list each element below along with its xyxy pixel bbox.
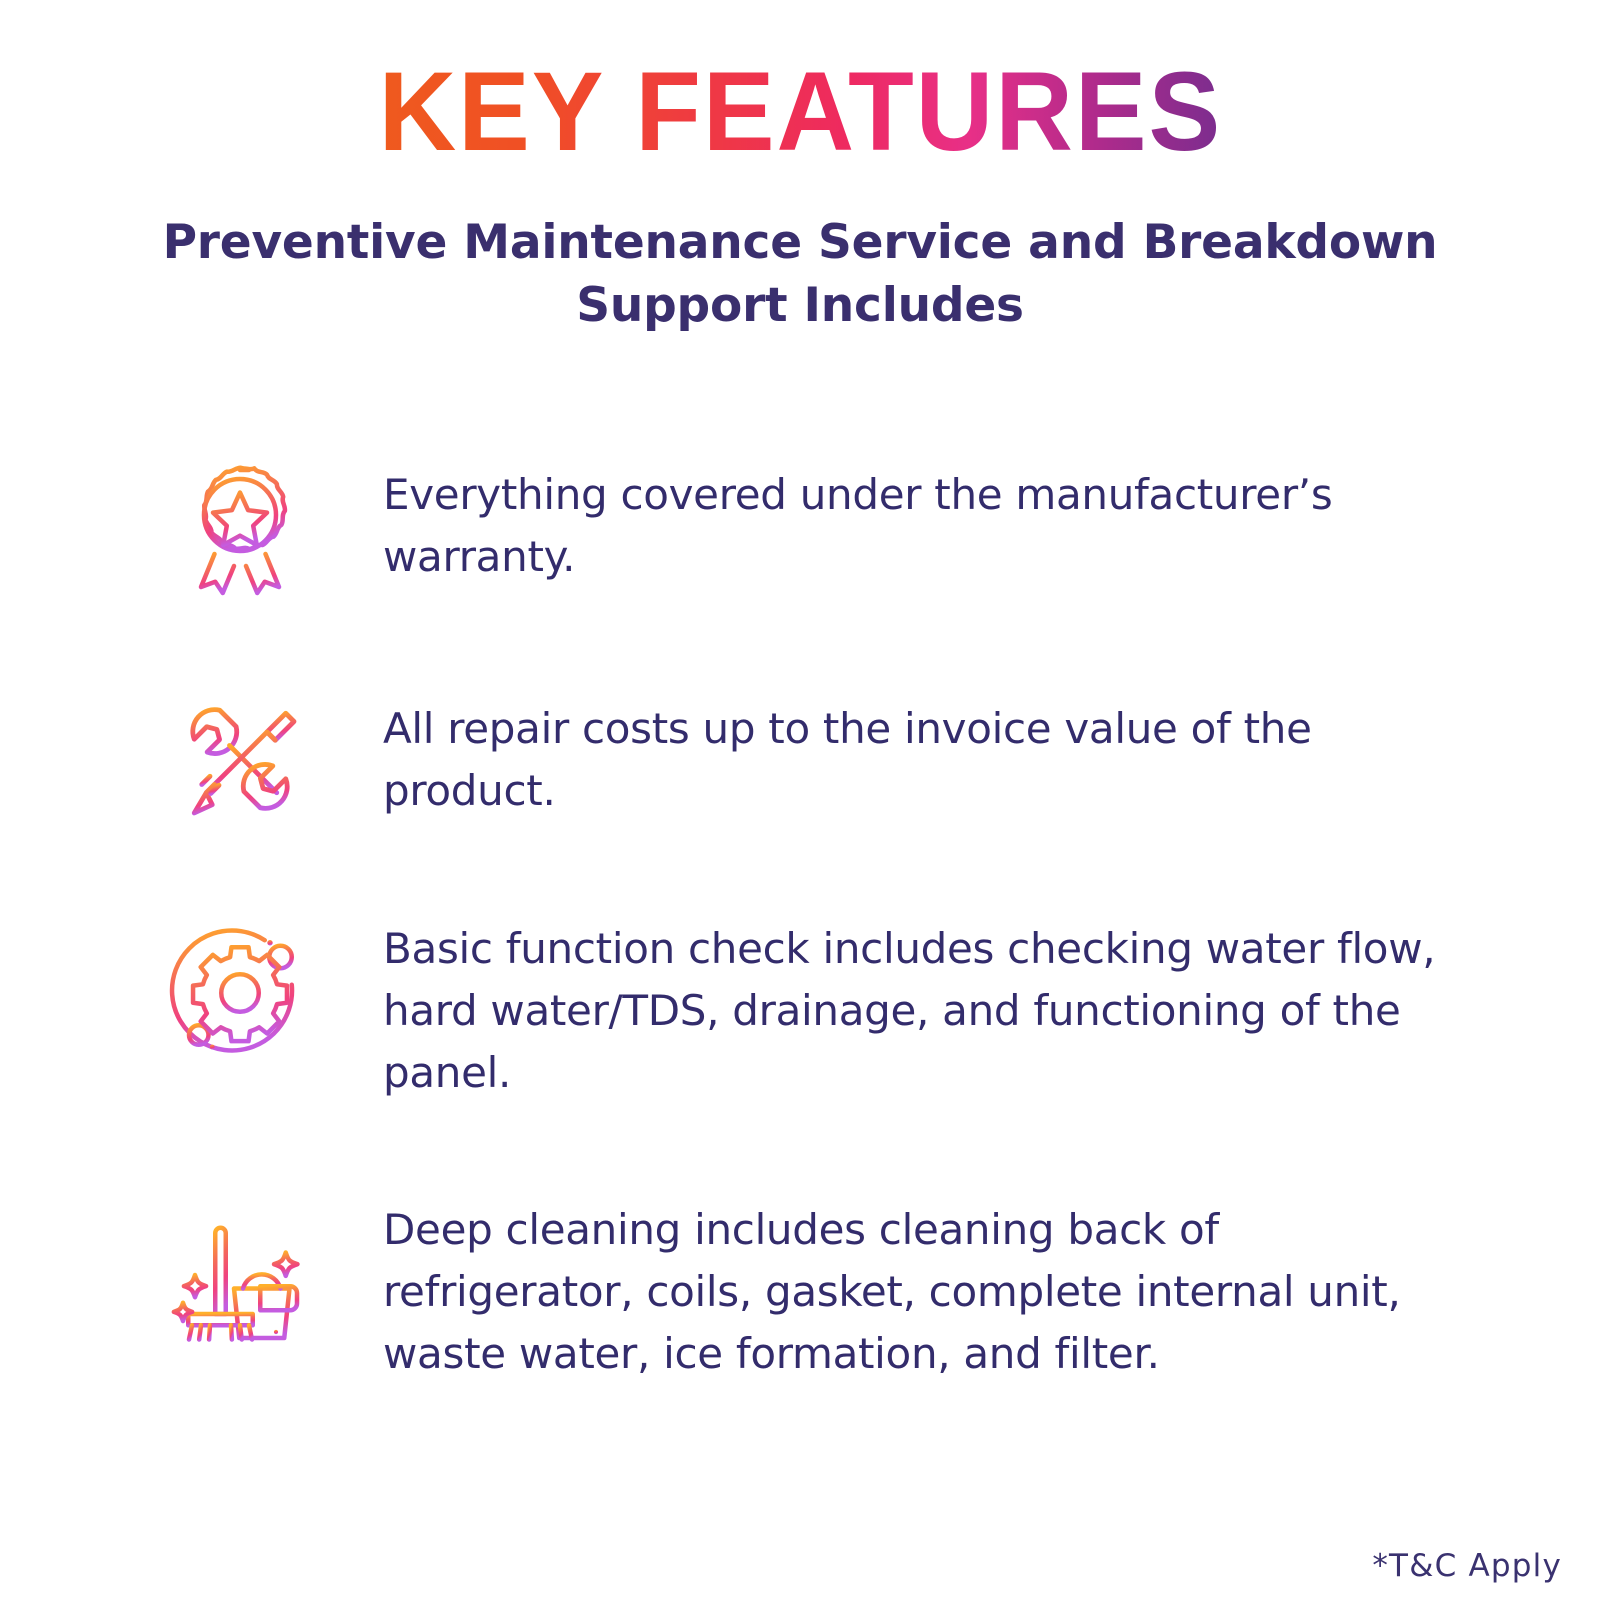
award-ribbon-icon [165,452,315,602]
feature-text: Deep cleaning includes cleaning back of … [315,1197,1465,1385]
feature-item-repair-costs: All repair costs up to the invoice value… [165,684,1465,834]
feature-item-warranty: Everything covered under the manufacture… [165,452,1465,602]
feature-item-deep-cleaning: Deep cleaning includes cleaning back of … [165,1197,1465,1385]
feature-text: Basic function check includes checking w… [315,918,1465,1104]
feature-text: Everything covered under the manufacture… [315,452,1465,588]
broom-bucket-cleaning-icon [165,1197,315,1347]
gear-settings-icon [165,918,315,1068]
terms-disclaimer: *T&C Apply [1372,1548,1562,1584]
page-title: KEY FEATURES [378,52,1222,173]
feature-item-function-check: Basic function check includes checking w… [165,918,1465,1104]
wrench-screwdriver-icon [165,684,315,834]
page-title-container: KEY FEATURES [0,52,1600,173]
feature-text: All repair costs up to the invoice value… [315,684,1465,822]
page-subtitle: Preventive Maintenance Service and Break… [95,212,1505,338]
key-features-poster: KEY FEATURES Preventive Maintenance Serv… [0,0,1600,1600]
